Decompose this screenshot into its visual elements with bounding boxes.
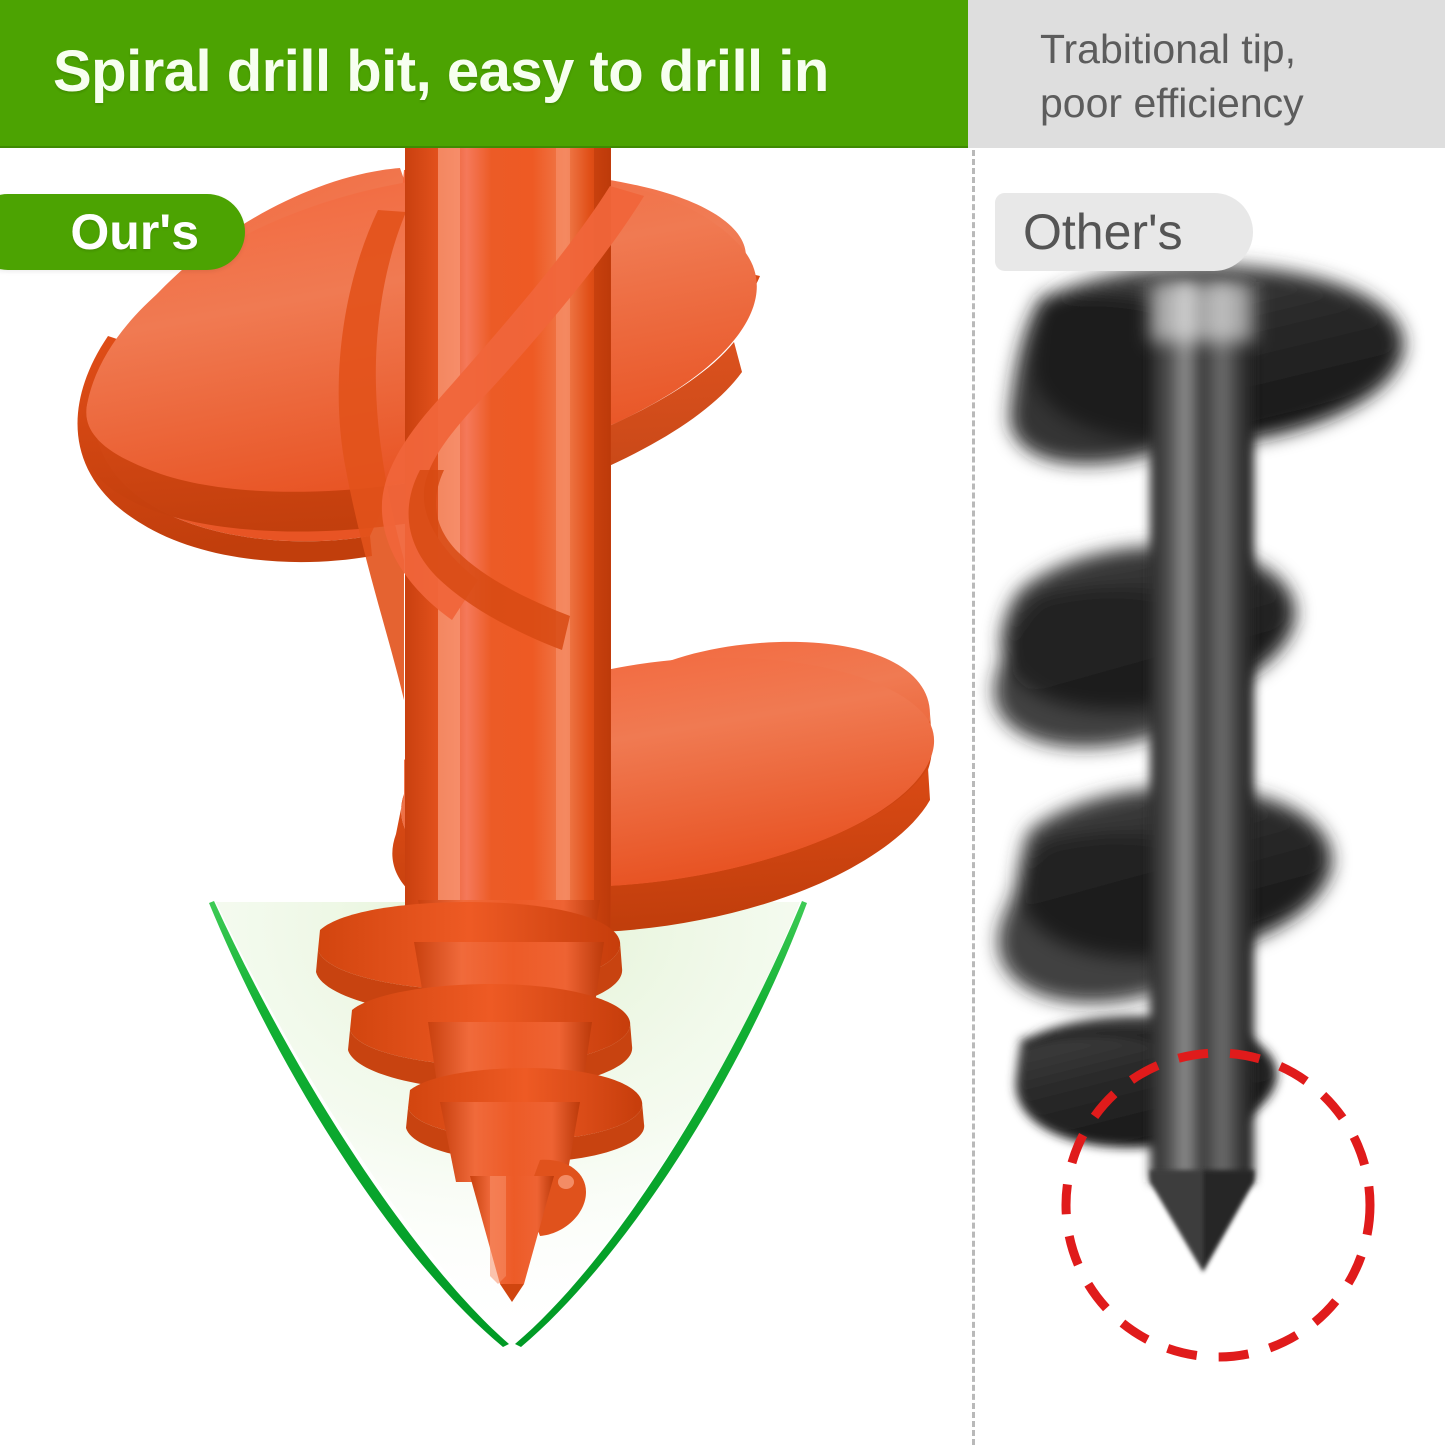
right-header-line-2: poor efficiency — [1040, 76, 1440, 130]
red-dashed-circle — [1066, 1053, 1370, 1357]
right-header-line-1: Trabitional tip, — [1040, 22, 1440, 76]
orange-auger-bit — [78, 148, 935, 1302]
panel-divider — [972, 150, 975, 1445]
others-badge-label: Other's — [1023, 203, 1183, 261]
dark-auger-bit — [994, 265, 1404, 1272]
comparison-infographic: Spiral drill bit, easy to drill in Trabi… — [0, 0, 1445, 1445]
left-header-banner: Spiral drill bit, easy to drill in — [0, 0, 968, 148]
right-header-banner: Trabitional tip, poor efficiency — [968, 0, 1445, 148]
v-cone-indicator — [209, 901, 807, 1347]
ours-badge: Our's — [0, 194, 245, 270]
left-header-title: Spiral drill bit, easy to drill in — [53, 38, 829, 105]
right-header-subtitle: Trabitional tip, poor efficiency — [1040, 22, 1440, 130]
ours-badge-label: Our's — [70, 203, 199, 261]
others-badge: Other's — [995, 193, 1253, 271]
